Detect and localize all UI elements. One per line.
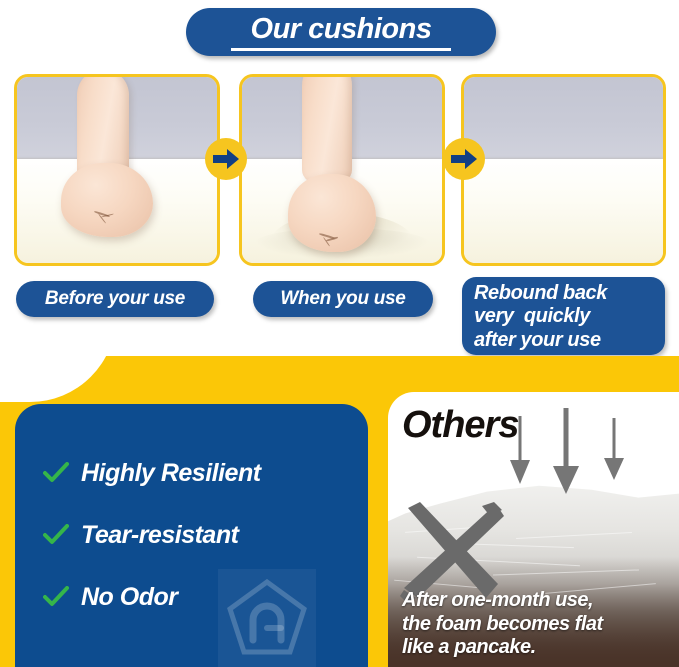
- title-underline: [231, 48, 451, 51]
- fist-shape: [288, 174, 376, 252]
- check-icon: [43, 584, 69, 610]
- arrow-down-icon: [504, 408, 654, 494]
- step-caption-label: When you use: [280, 288, 405, 310]
- step-caption-before: Before your use: [16, 281, 214, 317]
- others-title: Others: [402, 406, 518, 444]
- x-mark-icon: [398, 500, 506, 604]
- step-caption-line: after your use: [474, 329, 665, 352]
- photo-background-wall: [464, 77, 663, 166]
- step-photo-panel-after: [461, 74, 666, 266]
- brand-watermark: [218, 569, 316, 667]
- forearm-shape: [302, 74, 352, 185]
- rebounded-foam-image: [464, 77, 663, 263]
- arrow-right-icon: [213, 149, 239, 169]
- others-caption-line: like a pancake.: [402, 636, 603, 659]
- fist-pressing-foam-image: [242, 77, 442, 263]
- check-icon: [43, 460, 69, 486]
- others-comparison-card: Others: [388, 392, 679, 667]
- page-title: Our cushions: [251, 15, 432, 44]
- feature-label: No Odor: [81, 583, 178, 612]
- fiber-strand: [493, 570, 638, 576]
- step-caption-line: Rebound back: [474, 282, 665, 305]
- others-caption-line: After one-month use,: [402, 589, 603, 612]
- fist-on-foam-image: [17, 77, 217, 263]
- others-caption-line: the foam becomes flat: [402, 613, 603, 636]
- fiber-strand: [516, 532, 632, 539]
- x-mark: [398, 500, 506, 604]
- step-photo-panel-during: [239, 74, 445, 266]
- step-arrow-badge-1: [205, 138, 247, 180]
- feature-item-tear-resistant: Tear-resistant: [43, 504, 356, 566]
- feature-item-highly-resilient: Highly Resilient: [43, 442, 356, 504]
- step-caption-line: very quickly: [474, 305, 665, 328]
- check-icon: [43, 522, 69, 548]
- foam-slab: [464, 159, 663, 263]
- feature-label: Tear-resistant: [81, 521, 238, 550]
- step-photo-panel-before: [14, 74, 220, 266]
- step-caption-label: Before your use: [45, 288, 185, 310]
- step-caption-during: When you use: [253, 281, 433, 317]
- arrow-right-icon: [451, 149, 477, 169]
- page-title-banner: Our cushions: [186, 8, 496, 56]
- pressure-arrows: [504, 408, 654, 494]
- yellow-band-corner-notch: [0, 356, 120, 402]
- step-arrow-badge-2: [443, 138, 485, 180]
- feature-label: Highly Resilient: [81, 459, 261, 488]
- pentagon-house-logo-icon: [226, 578, 308, 658]
- fist-shape: [61, 163, 153, 237]
- others-caption: After one-month use, the foam becomes fl…: [402, 589, 603, 659]
- features-card: Highly Resilient Tear-resistant No Odor: [15, 404, 368, 667]
- step-caption-after: Rebound back very quickly after your use: [462, 277, 665, 355]
